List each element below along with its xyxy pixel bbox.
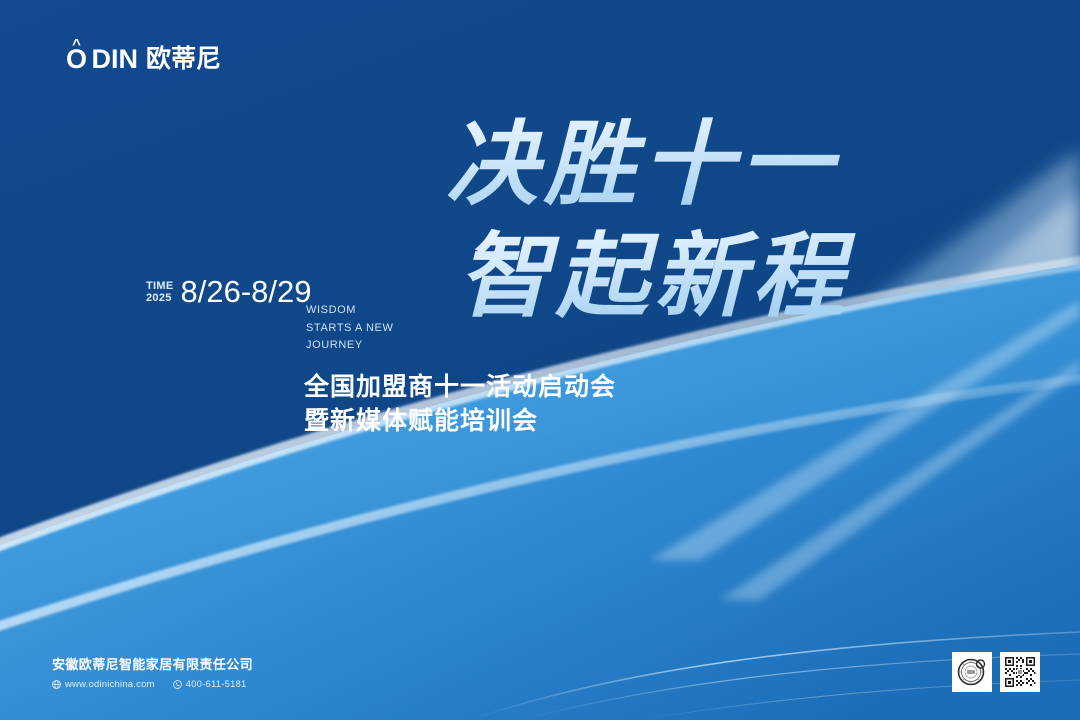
main-title-calligraphy: 决胜十一 智起新程: [440, 112, 910, 342]
date-label: TIME 2025: [146, 281, 173, 308]
globe-icon: [52, 680, 61, 689]
phone-text: 400-611-5181: [186, 679, 247, 690]
website-text: www.odinichina.com: [65, 679, 155, 690]
event-subtitle: 全国加盟商十一活动启动会 暨新媒体赋能培训会: [304, 370, 616, 438]
english-tagline: WISDOM STARTS A NEW JOURNEY: [306, 302, 393, 355]
tagline-line-2: STARTS A NEW: [306, 320, 393, 338]
logo-chinese-text: 欧蒂尼: [146, 47, 221, 72]
subtitle-line-2: 暨新媒体赋能培训会: [304, 404, 616, 438]
date-label-time: TIME: [146, 281, 173, 293]
brand-logo[interactable]: ^ O DIN 欧蒂尼: [66, 46, 221, 73]
background-waves: [0, 0, 1080, 720]
poster-canvas: ^ O DIN 欧蒂尼 决胜十一 智起新程 TIME 2025 8/26-8/2…: [0, 0, 1080, 720]
logo-circumflex-icon: ^: [72, 37, 80, 52]
logo-latin-text: DIN: [92, 46, 139, 73]
event-date: TIME 2025 8/26-8/29: [146, 276, 311, 308]
phone-icon: [173, 680, 182, 689]
subtitle-line-1: 全国加盟商十一活动启动会: [304, 370, 616, 404]
qr-code-badge[interactable]: [1000, 652, 1040, 692]
seal-emblem-icon: [955, 655, 989, 689]
website-item[interactable]: www.odinichina.com: [52, 679, 155, 690]
date-label-year: 2025: [146, 293, 173, 305]
tagline-line-1: WISDOM: [306, 302, 393, 320]
main-title-line1: 决胜十一: [446, 114, 841, 216]
seal-emblem-badge[interactable]: [952, 652, 992, 692]
footer: 安徽欧蒂尼智能家居有限责任公司 www.odinichina.com 400-6…: [52, 656, 253, 690]
company-name: 安徽欧蒂尼智能家居有限责任公司: [52, 656, 253, 674]
phone-item[interactable]: 400-611-5181: [173, 679, 247, 690]
logo-o-mark: ^ O: [66, 46, 87, 73]
qr-code-icon: [1003, 655, 1037, 689]
badge-group: [952, 652, 1040, 692]
main-title: 决胜十一 智起新程: [440, 112, 910, 342]
footer-contact-row: www.odinichina.com 400-611-5181: [52, 679, 253, 690]
main-title-line2: 智起新程: [458, 226, 856, 328]
date-range: 8/26-8/29: [180, 276, 311, 308]
tagline-line-3: JOURNEY: [306, 337, 393, 355]
